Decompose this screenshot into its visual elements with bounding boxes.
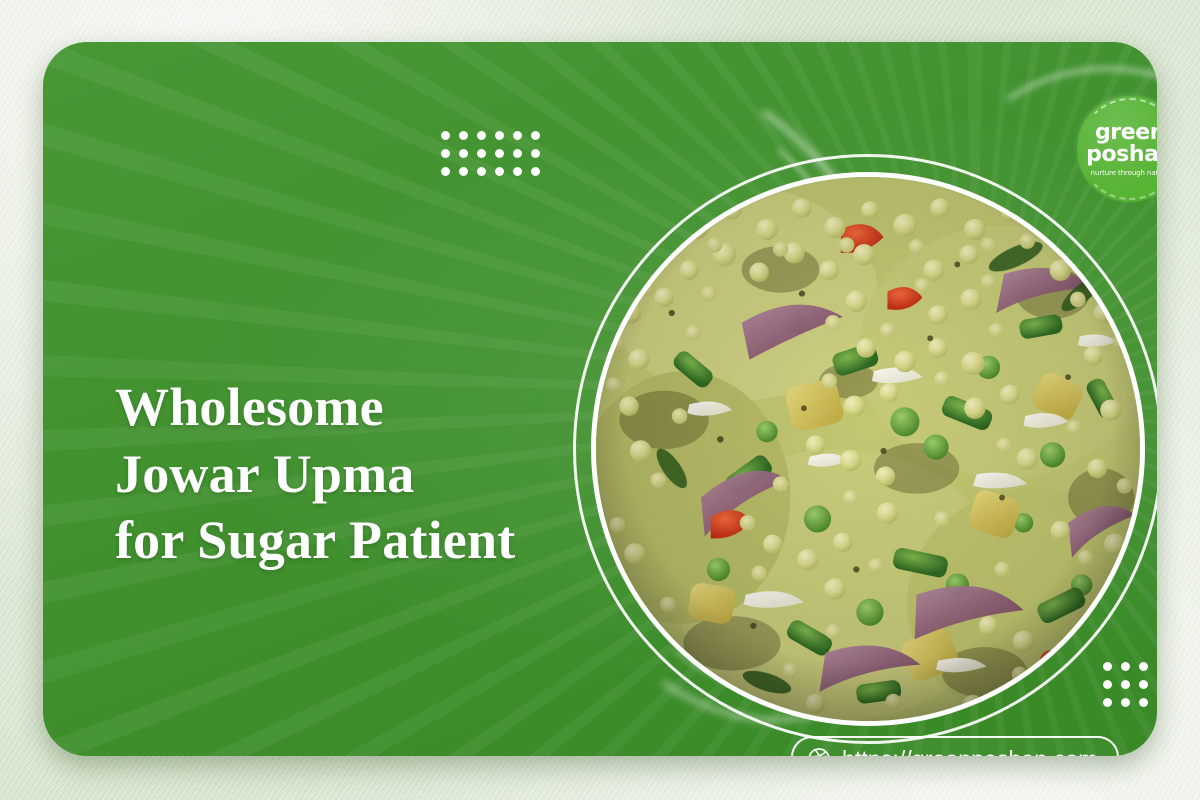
title-line-2: Jowar Upma — [115, 441, 585, 507]
jowar-upma-bowl-photo — [573, 154, 1157, 744]
title-line-1: Wholesome — [115, 374, 585, 440]
banner-canvas: Wholesome Jowar Upma for Sugar Patient h… — [0, 0, 1200, 800]
photo-image — [596, 177, 1140, 721]
photo-inner-ring — [591, 172, 1145, 726]
dot-grid-icon — [1103, 662, 1148, 707]
brand-word-poshan: poshan — [1086, 144, 1157, 166]
green-card: Wholesome Jowar Upma for Sugar Patient h… — [43, 42, 1157, 756]
brand-logo-text: green poshan nurture through nature — [1077, 96, 1157, 202]
website-url-badge[interactable]: https://greenposhan.com — [791, 736, 1119, 756]
title-line-3: for Sugar Patient — [115, 507, 585, 573]
brand-tagline: nurture through nature — [1091, 170, 1157, 177]
brand-word-green: green — [1095, 122, 1157, 144]
dribbble-globe-icon — [807, 747, 831, 756]
website-url-text: https://greenposhan.com — [842, 746, 1097, 757]
dot-grid-icon — [441, 131, 540, 176]
brand-logo[interactable]: green poshan nurture through nature — [1077, 96, 1157, 202]
page-title: Wholesome Jowar Upma for Sugar Patient — [115, 374, 585, 573]
